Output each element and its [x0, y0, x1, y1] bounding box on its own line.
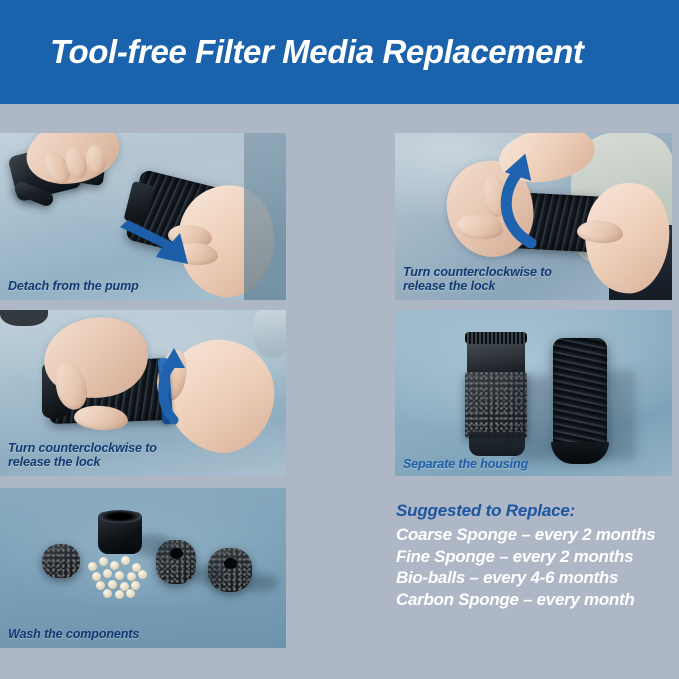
replacement-heading: Suggested to Replace: — [396, 500, 679, 522]
photo-wash-the-components — [0, 488, 286, 648]
step-panel-turn-top: Turn counterclockwise to release the loc… — [395, 133, 672, 300]
shadow-shape — [244, 574, 278, 592]
coarse-sponge-shape — [42, 544, 80, 578]
step-panel-detach: Detach from the pump — [0, 133, 286, 300]
sponge-hole-shape — [170, 548, 183, 559]
shadow-shape — [132, 534, 172, 556]
sponge-hole-shape — [224, 558, 237, 569]
caption-turn-mid: Turn counterclockwise to release the loc… — [8, 441, 157, 471]
caption-detach: Detach from the pump — [8, 279, 139, 294]
rotate-counterclockwise-arrow-icon — [491, 147, 563, 253]
step-panel-wash: Wash the components — [0, 488, 286, 648]
rotate-counterclockwise-arrow-icon — [152, 346, 200, 428]
replacement-item-list: Coarse Sponge – every 2 months Fine Spon… — [396, 524, 679, 611]
page-title: Tool-free Filter Media Replacement — [0, 35, 583, 70]
background-subject-shape — [244, 133, 286, 300]
photo-detach-from-pump — [0, 133, 286, 300]
background-object-shape — [252, 310, 286, 358]
step-panel-turn-mid: Turn counterclockwise to release the loc… — [0, 310, 286, 476]
replacement-schedule-block: Suggested to Replace: Coarse Sponge – ev… — [396, 500, 679, 611]
shadow-shape — [190, 566, 224, 584]
direction-arrow-icon — [118, 217, 198, 271]
background-object-shape — [0, 310, 48, 326]
filter-housing-shape — [553, 338, 607, 456]
infographic-root: Tool-free Filter Media Replacement — [0, 0, 679, 679]
media-core-bristles-shape — [465, 332, 527, 344]
shadow-shape — [515, 376, 551, 460]
list-item: Bio-balls – every 4-6 months — [396, 567, 679, 589]
list-item: Carbon Sponge – every month — [396, 589, 679, 611]
caption-separate: Separate the housing — [403, 457, 528, 472]
caption-turn-top: Turn counterclockwise to release the loc… — [403, 265, 552, 295]
bio-balls-group — [86, 554, 150, 596]
step-panel-separate: Separate the housing — [395, 310, 672, 476]
caption-wash: Wash the components — [8, 627, 139, 642]
list-item: Coarse Sponge – every 2 months — [396, 524, 679, 546]
title-banner: Tool-free Filter Media Replacement — [0, 0, 679, 104]
photo-separate-the-housing — [395, 310, 672, 476]
shadow-shape — [601, 370, 635, 460]
list-item: Fine Sponge – every 2 months — [396, 546, 679, 568]
cap-opening-shape — [98, 510, 142, 523]
